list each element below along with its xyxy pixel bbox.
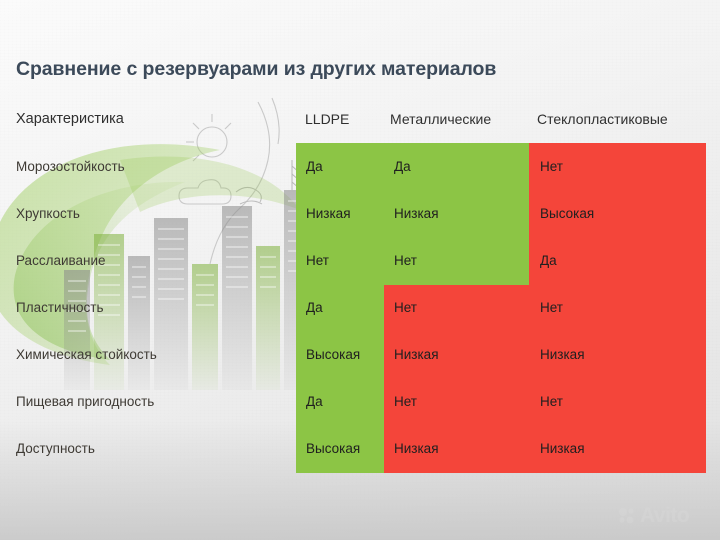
row-label-plasticity: Пластичность <box>16 300 104 315</box>
cell-fiberglass-delamination: Да <box>540 253 557 268</box>
page-title: Сравнение с резервуарами из других матер… <box>16 58 496 81</box>
cell-metal-availability: Низкая <box>394 441 439 456</box>
cell-metal-brittleness: Низкая <box>394 206 439 221</box>
row-label-availability: Доступность <box>16 441 95 456</box>
cell-lldpe-delamination: Нет <box>306 253 329 268</box>
green-leaf-swoosh-icon <box>0 120 330 370</box>
cell-lldpe-frost-resistance: Да <box>306 159 323 174</box>
row-label-food-safety: Пищевая пригодность <box>16 394 154 409</box>
cell-lldpe-chemical-resistance: Высокая <box>306 347 360 362</box>
column-header-characteristic: Характеристика <box>16 111 124 127</box>
avito-watermark: Avito <box>618 505 689 526</box>
slide-canvas: Сравнение с резервуарами из других матер… <box>0 0 720 540</box>
row-label-frost-resistance: Морозостойкость <box>16 159 125 174</box>
column-header-fiberglass: Стеклопластиковые <box>537 111 668 127</box>
cell-fiberglass-food-safety: Нет <box>540 394 563 409</box>
row-label-brittleness: Хрупкость <box>16 206 80 221</box>
cell-fiberglass-availability: Низкая <box>540 441 585 456</box>
cell-metal-plasticity: Нет <box>394 300 417 315</box>
cell-metal-delamination: Нет <box>394 253 417 268</box>
cell-lldpe-brittleness: Низкая <box>306 206 351 221</box>
cell-fiberglass-chemical-resistance: Низкая <box>540 347 585 362</box>
row-label-delamination: Расслаивание <box>16 253 106 268</box>
column-header-lldpe: LLDPE <box>305 111 349 127</box>
avito-watermark-text: Avito <box>640 505 689 526</box>
cell-lldpe-availability: Высокая <box>306 441 360 456</box>
avito-dots-icon <box>618 507 636 525</box>
cell-metal-food-safety: Нет <box>394 394 417 409</box>
cell-metal-chemical-resistance: Низкая <box>394 347 439 362</box>
cell-metal-frost-resistance: Да <box>394 159 411 174</box>
column-header-metal: Металлические <box>390 111 491 127</box>
cell-fiberglass-plasticity: Нет <box>540 300 563 315</box>
cell-fiberglass-frost-resistance: Нет <box>540 159 563 174</box>
cell-lldpe-food-safety: Да <box>306 394 323 409</box>
row-label-chemical-resistance: Химическая стойкость <box>16 347 157 362</box>
cell-fiberglass-brittleness: Высокая <box>540 206 594 221</box>
cell-lldpe-plasticity: Да <box>306 300 323 315</box>
